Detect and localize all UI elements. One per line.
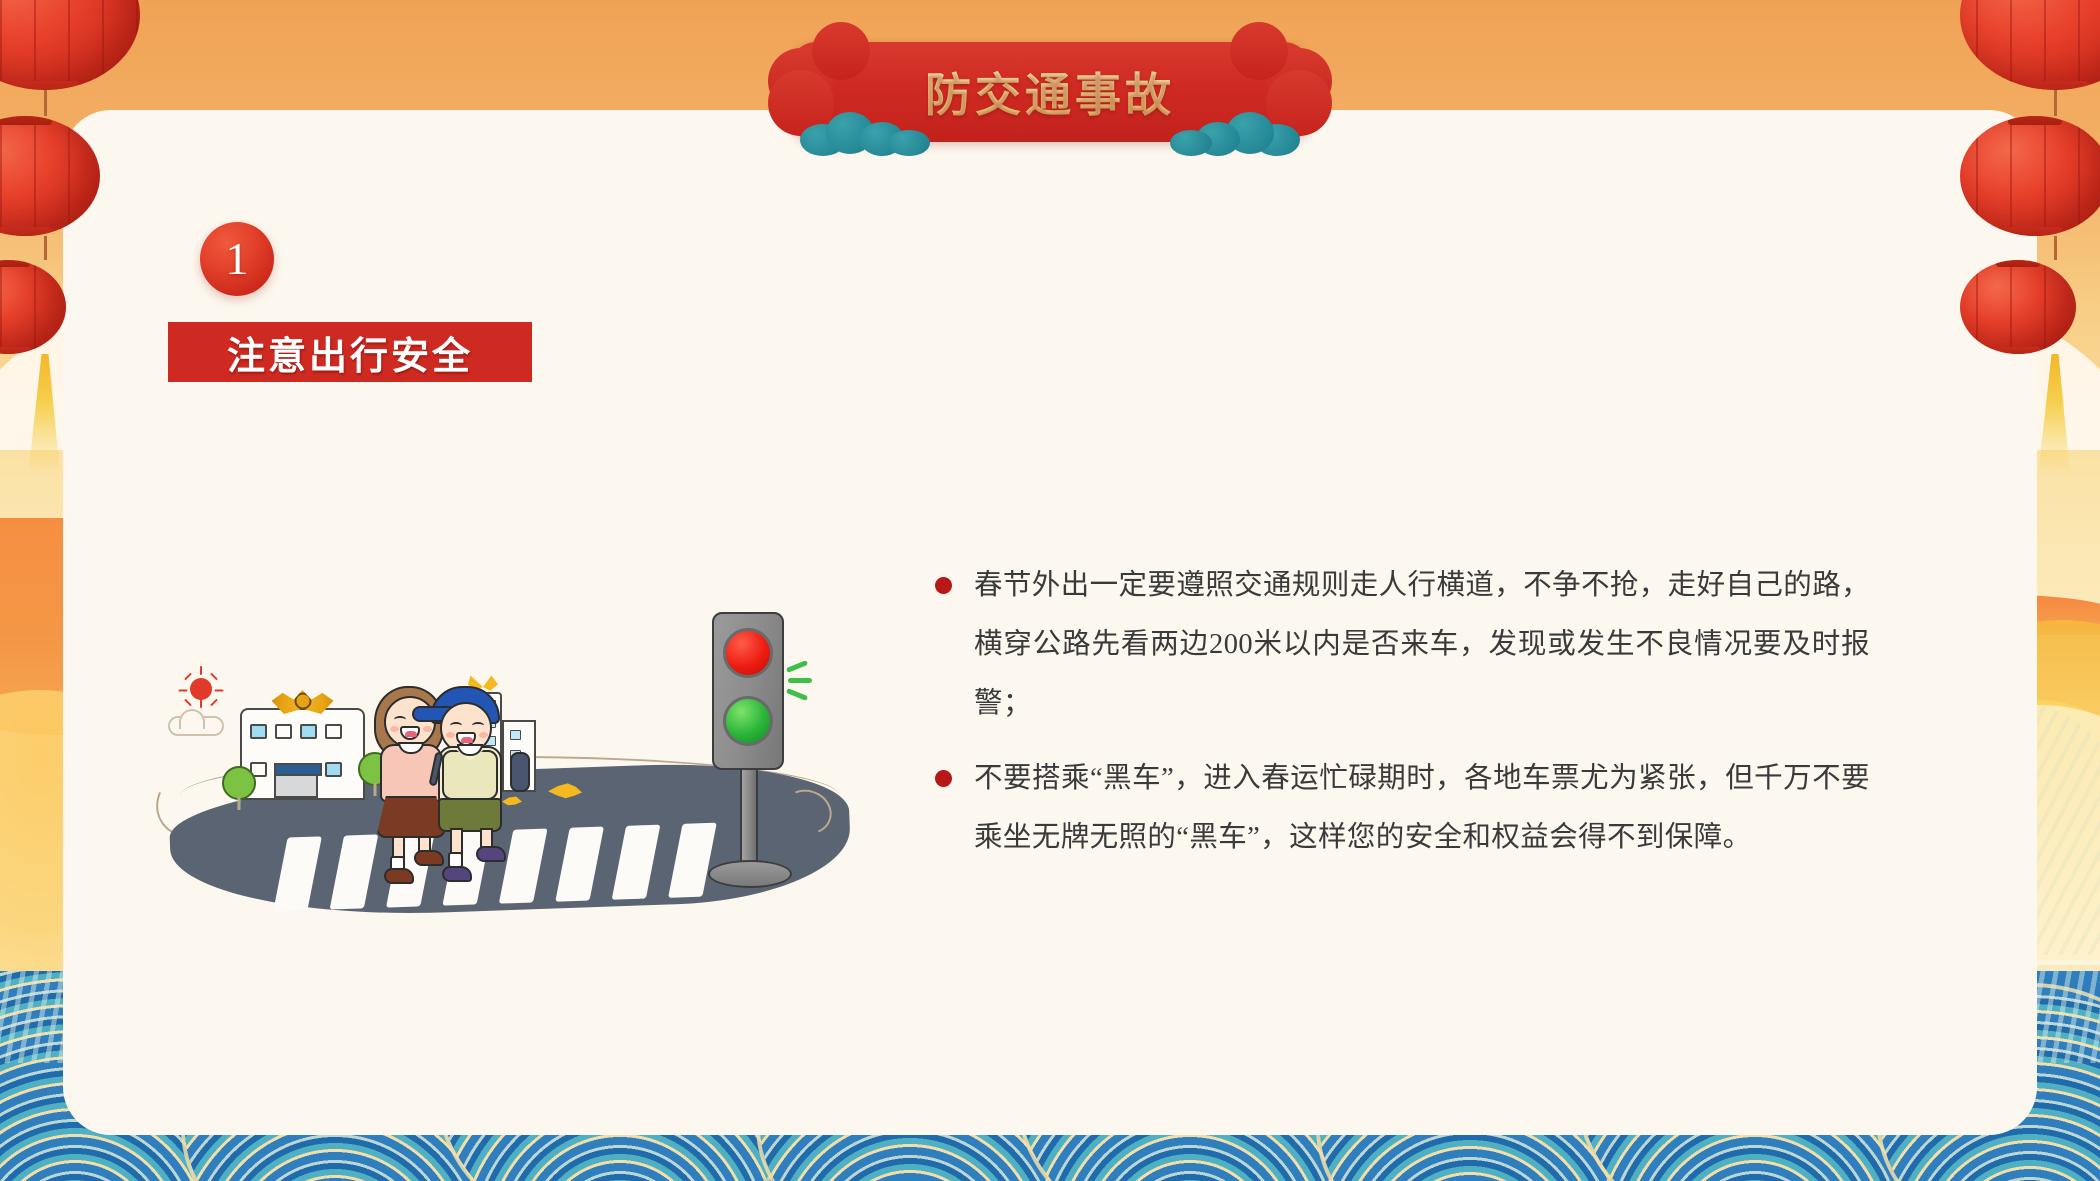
traffic-light-base bbox=[708, 860, 792, 888]
bullet-list: 春节外出一定要遵照交通规则走人行横道，不争不抢，走好自己的路，横穿公路先看两边2… bbox=[935, 556, 1870, 883]
title-banner: 防交通事故 bbox=[790, 42, 1310, 142]
list-item: 不要搭乘“黑车”，进入春运忙碌期时，各地车票尤为紧张，但千万不要乘坐无牌无照的“… bbox=[935, 749, 1870, 867]
boy-backpack bbox=[510, 752, 530, 792]
list-item: 春节外出一定要遵照交通规则走人行横道，不争不抢，走好自己的路，横穿公路先看两边2… bbox=[935, 556, 1870, 733]
lantern-icon bbox=[0, 260, 140, 354]
lantern-icon bbox=[1960, 260, 2100, 354]
lantern-string bbox=[44, 90, 47, 116]
section-number-badge: 1 bbox=[200, 222, 274, 296]
lantern-icon bbox=[0, 0, 140, 90]
traffic-light-housing bbox=[712, 612, 784, 770]
bullet-dot-icon bbox=[935, 770, 952, 787]
lantern-tassel-icon bbox=[2026, 354, 2084, 474]
section-number-label: 1 bbox=[226, 236, 249, 282]
lantern-string bbox=[2054, 90, 2057, 116]
lantern-string bbox=[2054, 236, 2057, 260]
sun-icon bbox=[190, 678, 212, 700]
traffic-light-red-lamp bbox=[723, 628, 773, 678]
lantern-tassel-icon bbox=[16, 354, 74, 474]
section-title-banner: 注意出行安全 bbox=[168, 322, 532, 382]
lantern-string bbox=[44, 236, 47, 260]
lantern-icon bbox=[1960, 116, 2100, 236]
lantern-icon bbox=[0, 116, 140, 236]
police-station-building bbox=[240, 708, 365, 800]
lantern-icon bbox=[1960, 0, 2100, 90]
building-door bbox=[274, 770, 318, 798]
bullet-dot-icon bbox=[935, 577, 952, 594]
lantern-group-right bbox=[1960, 0, 2100, 474]
traffic-light-green-lamp bbox=[723, 696, 773, 746]
child-boy-figure bbox=[428, 680, 520, 880]
tree-icon bbox=[222, 766, 256, 800]
bullet-text: 春节外出一定要遵照交通规则走人行横道，不争不抢，走好自己的路，横穿公路先看两边2… bbox=[974, 556, 1870, 733]
cloud-small-icon bbox=[168, 716, 224, 736]
police-emblem-icon bbox=[272, 690, 334, 714]
bullet-text: 不要搭乘“黑车”，进入春运忙碌期时，各地车票尤为紧张，但千万不要乘坐无牌无照的“… bbox=[974, 749, 1870, 867]
section-title-label: 注意出行安全 bbox=[168, 322, 532, 382]
traffic-light-icon bbox=[690, 612, 810, 912]
street-crossing-illustration bbox=[150, 670, 880, 910]
lantern-group-left bbox=[0, 0, 140, 474]
traffic-light-pole bbox=[740, 768, 758, 870]
slide-root: 防交通事故 1 注意出行安全 bbox=[0, 0, 2100, 1181]
boy-shorts bbox=[438, 798, 502, 832]
page-title: 防交通事故 bbox=[790, 42, 1310, 142]
